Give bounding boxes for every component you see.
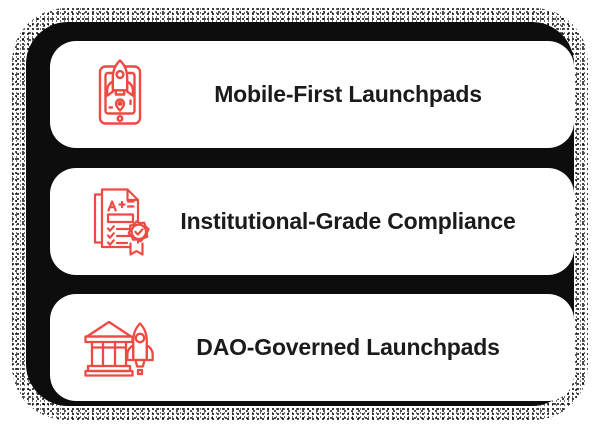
feature-card-label: Mobile-First Launchpads [166, 81, 574, 107]
screenshot-root: Mobile-First Launchpads [0, 0, 600, 431]
feature-card-list: Mobile-First Launchpads [50, 41, 574, 401]
feature-card-label: Institutional-Grade Compliance [166, 208, 574, 234]
mobile-rocket-icon [74, 59, 166, 131]
feature-card-label: DAO-Governed Launchpads [166, 334, 574, 360]
feature-card-dao-governed-launchpads[interactable]: DAO-Governed Launchpads [50, 294, 574, 401]
compliance-certificate-icon [74, 185, 166, 257]
feature-panel: Mobile-First Launchpads [12, 8, 588, 420]
bank-rocket-icon [74, 316, 166, 380]
feature-card-institutional-grade-compliance[interactable]: Institutional-Grade Compliance [50, 168, 574, 275]
feature-card-mobile-first-launchpads[interactable]: Mobile-First Launchpads [50, 41, 574, 148]
